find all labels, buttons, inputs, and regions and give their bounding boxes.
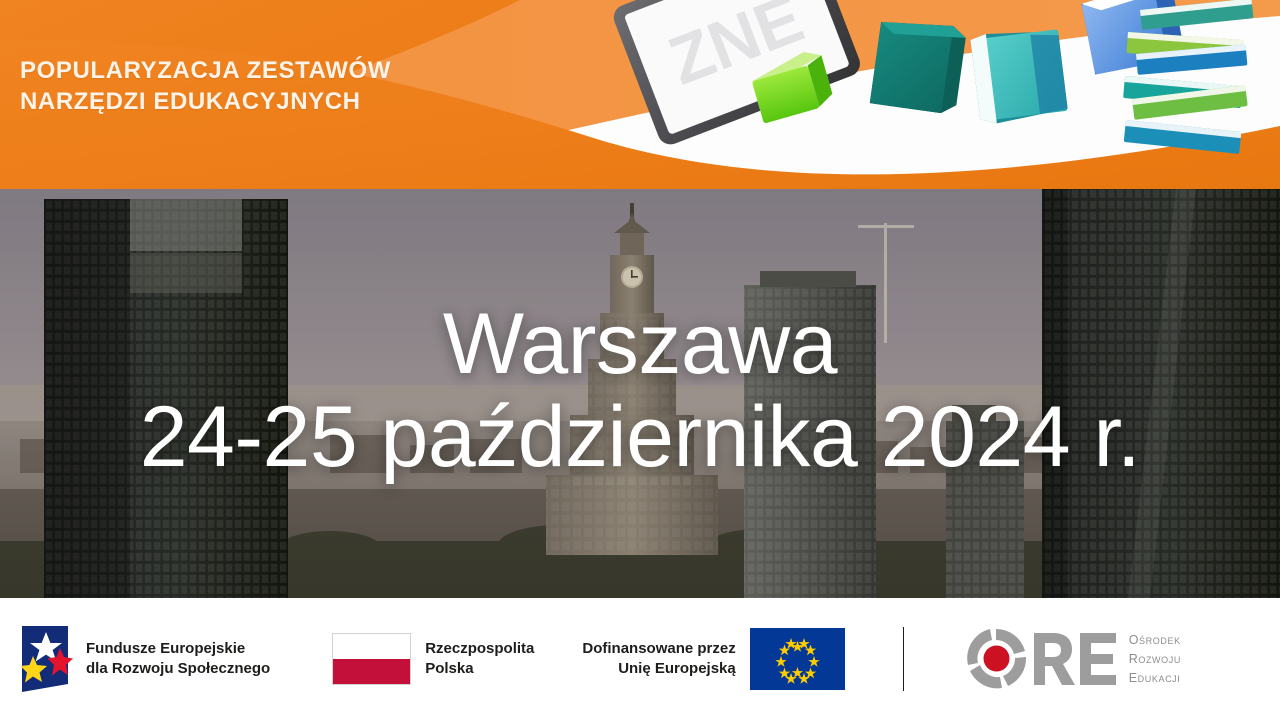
ore-sub-line-2: Rozwoju [1129,650,1181,669]
rzeczpospolita-polska-label: Rzeczpospolita Polska [425,639,534,679]
floating-book-teal-dark [870,16,967,115]
ore-sub-line-3: Edukacji [1129,669,1181,688]
ore-wordmark-icon [964,627,1116,691]
book-stack [1123,0,1253,154]
floating-book-turquoise [970,25,1068,125]
eu-flag-icon [750,628,845,690]
ore-red-dot [983,646,1009,672]
fe-line-2: dla Rozwoju Społecznego [86,659,270,679]
ore-sub-line-1: Ośrodek [1129,631,1181,650]
warsaw-skyline-photo [0,189,1280,598]
skyline-illustration [0,189,1280,598]
fundusze-europejskie-icon [16,622,74,696]
presentation-slide: ZNE [0,0,1280,720]
eu-line-2: Unię Europejską [582,659,735,679]
eu-line-1: Dofinansowane przez [582,639,735,659]
footer-divider [903,627,904,691]
unia-europejska-label: Dofinansowane przez Unię Europejską [582,639,735,679]
header-banner: ZNE [0,0,1280,190]
fundusze-europejskie-label: Fundusze Europejskie dla Rozwoju Społecz… [86,639,270,679]
pl-line-2: Polska [425,659,534,679]
banner-heading-line-2: NARZĘDZI EDUKACYJNYCH [20,87,391,118]
banner-heading-line-1: POPULARYZACJA ZESTAWÓW [20,57,391,84]
educational-tools-illustration: ZNE [580,0,1280,190]
logo-rzeczpospolita-polska: Rzeczpospolita Polska [332,633,534,685]
footer-logo-bar: Fundusze Europejskie dla Rozwoju Społecz… [0,598,1280,720]
ore-subtitle: Ośrodek Rozwoju Edukacji [1129,631,1181,688]
logo-fundusze-europejskie: Fundusze Europejskie dla Rozwoju Społecz… [16,622,270,696]
pl-line-1: Rzeczpospolita [425,639,534,659]
poland-flag-icon [332,633,411,685]
banner-heading: POPULARYZACJA ZESTAWÓW NARZĘDZI EDUKACYJ… [20,56,391,117]
fe-line-1: Fundusze Europejskie [86,639,270,659]
logo-unia-europejska: Dofinansowane przez Unię Europejską [582,628,844,690]
logo-ore: Ośrodek Rozwoju Edukacji [964,627,1181,691]
